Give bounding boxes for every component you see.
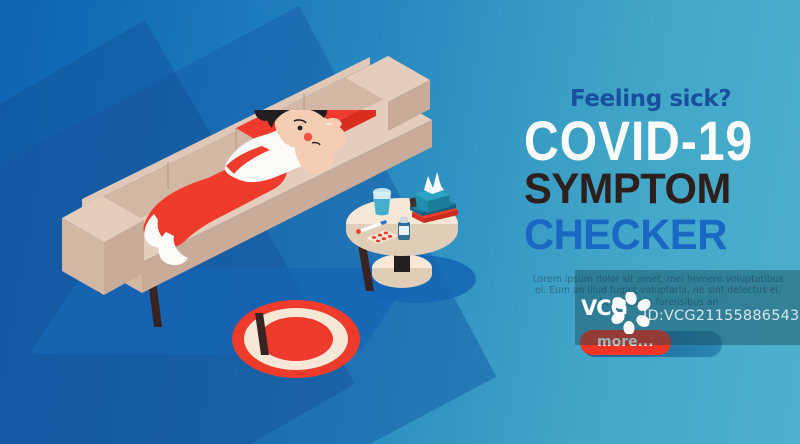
cta-group[interactable]: more... [582, 331, 722, 357]
glass-of-water [373, 188, 391, 216]
more-button[interactable]: more... [580, 330, 671, 355]
tissue-box [414, 172, 450, 213]
headline-line-covid19: COVID-19 [524, 114, 756, 167]
tissue-sheets [424, 172, 444, 194]
headline-line-symptom: SYMPTOM [524, 167, 786, 212]
side-table [340, 168, 470, 288]
covid-symptom-checker-banner: Feeling sick? COVID-19 SYMPTOM CHECKER L… [0, 0, 800, 444]
blush-cheek [304, 133, 312, 141]
eye [298, 126, 303, 131]
watermark-id-text: ID:VCG211558865435 [643, 308, 800, 324]
headline-line-checker: CHECKER [524, 212, 786, 258]
small-device [409, 198, 416, 208]
headline-block: Feeling sick? COVID-19 SYMPTOM CHECKER L… [508, 86, 794, 308]
body-paragraph: Lorem ipsum dolor sit amet, mei homero v… [508, 274, 794, 308]
